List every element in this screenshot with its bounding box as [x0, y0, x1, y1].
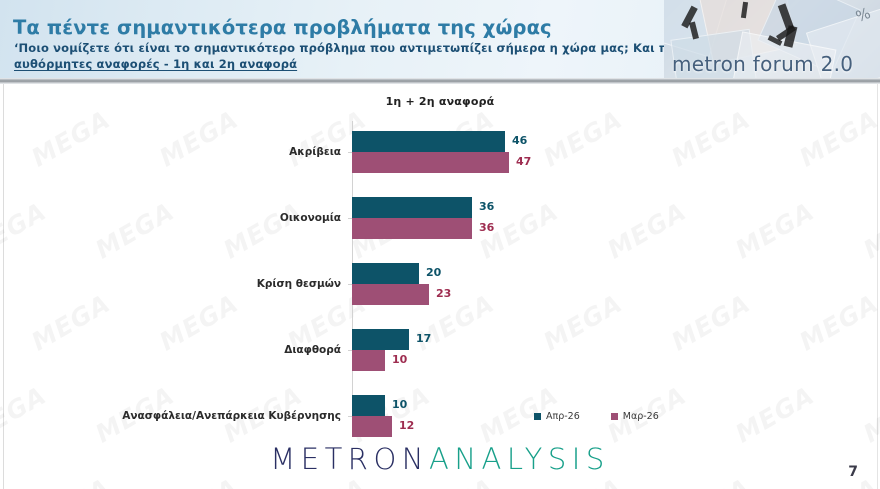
bar-group: Οικονομία3636	[352, 197, 782, 239]
bar-Απρ-26-Οικονομία	[352, 197, 472, 218]
bar-Απρ-26-Ακρίβεια	[352, 131, 505, 152]
legend-label: Απρ-26	[546, 411, 580, 422]
bar-group: Κρίση θεσμών2023	[352, 263, 782, 305]
bar-value-label: 47	[516, 155, 531, 168]
page-number: 7	[848, 464, 858, 480]
bar-value-label: 36	[479, 200, 494, 213]
bar-Απρ-26-Ανασφάλεια/Ανεπάρκεια Κυβέρνησης	[352, 395, 385, 416]
bar-group: Ακρίβεια4647	[352, 131, 782, 173]
category-label: Διαφθορά	[111, 344, 341, 357]
legend-swatch-icon	[611, 413, 618, 420]
chart-title: 1η + 2η αναφορά	[0, 95, 880, 108]
bar-value-label: 10	[392, 398, 407, 411]
legend-item-Απρ-26[interactable]: Απρ-26	[534, 411, 580, 422]
metron-forum-logo: % metron forum 2.0	[664, 0, 880, 84]
slide-header: Τα πέντε σημαντικότερα προβλήματα της χώ…	[0, 0, 880, 84]
bar-Μαρ-26-Κρίση θεσμών	[352, 284, 429, 305]
question-subnote: αυθόρμητες αναφορές - 1η και 2η αναφορά	[14, 57, 297, 71]
bar-Μαρ-26-Ανασφάλεια/Ανεπάρκεια Κυβέρνησης	[352, 416, 392, 437]
axis-tick	[348, 350, 352, 351]
bar-value-label: 23	[436, 287, 451, 300]
legend-swatch-icon	[534, 413, 541, 420]
bar-value-label: 17	[416, 332, 431, 345]
bar-Απρ-26-Διαφθορά	[352, 329, 409, 350]
category-label: Κρίση θεσμών	[111, 278, 341, 291]
bar-value-label: 36	[479, 221, 494, 234]
header-divider	[0, 78, 880, 84]
metron-analysis-logo: METRONANALYSIS	[0, 442, 880, 476]
logo-metron: METRON	[270, 442, 429, 476]
axis-tick	[348, 218, 352, 219]
legend-label: Μαρ-26	[623, 411, 659, 422]
logo-analysis: ANALYSIS	[429, 442, 610, 476]
chart-legend: Απρ-26Μαρ-26	[534, 411, 659, 422]
forum-logo-text: metron forum 2.0	[672, 52, 853, 76]
chart-plot-area: Ακρίβεια4647Οικονομία3636Κρίση θεσμών202…	[352, 121, 782, 421]
axis-tick	[348, 152, 352, 153]
bar-Μαρ-26-Διαφθορά	[352, 350, 385, 371]
bar-value-label: 10	[392, 353, 407, 366]
axis-tick	[348, 284, 352, 285]
bar-group: Διαφθορά1710	[352, 329, 782, 371]
slide: Τα πέντε σημαντικότερα προβλήματα της χώ…	[0, 0, 880, 489]
bar-Μαρ-26-Οικονομία	[352, 218, 472, 239]
category-label: Ακρίβεια	[111, 146, 341, 159]
bar-value-label: 20	[426, 266, 441, 279]
bar-value-label: 46	[512, 134, 527, 147]
bar-chart: 1η + 2η αναφορά Ακρίβεια4647Οικονομία363…	[0, 84, 880, 439]
legend-item-Μαρ-26[interactable]: Μαρ-26	[611, 411, 659, 422]
page-title: Τα πέντε σημαντικότερα προβλήματα της χώ…	[13, 16, 552, 39]
category-label: Ανασφάλεια/Ανεπάρκεια Κυβέρνησης	[111, 410, 341, 423]
question-text: ‘Ποιο νομίζετε ότι είναι το σημαντικότερ…	[14, 41, 733, 55]
bar-Μαρ-26-Ακρίβεια	[352, 152, 509, 173]
category-label: Οικονομία	[111, 212, 341, 225]
axis-tick	[348, 416, 352, 417]
bar-Απρ-26-Κρίση θεσμών	[352, 263, 419, 284]
bar-value-label: 12	[399, 419, 414, 432]
